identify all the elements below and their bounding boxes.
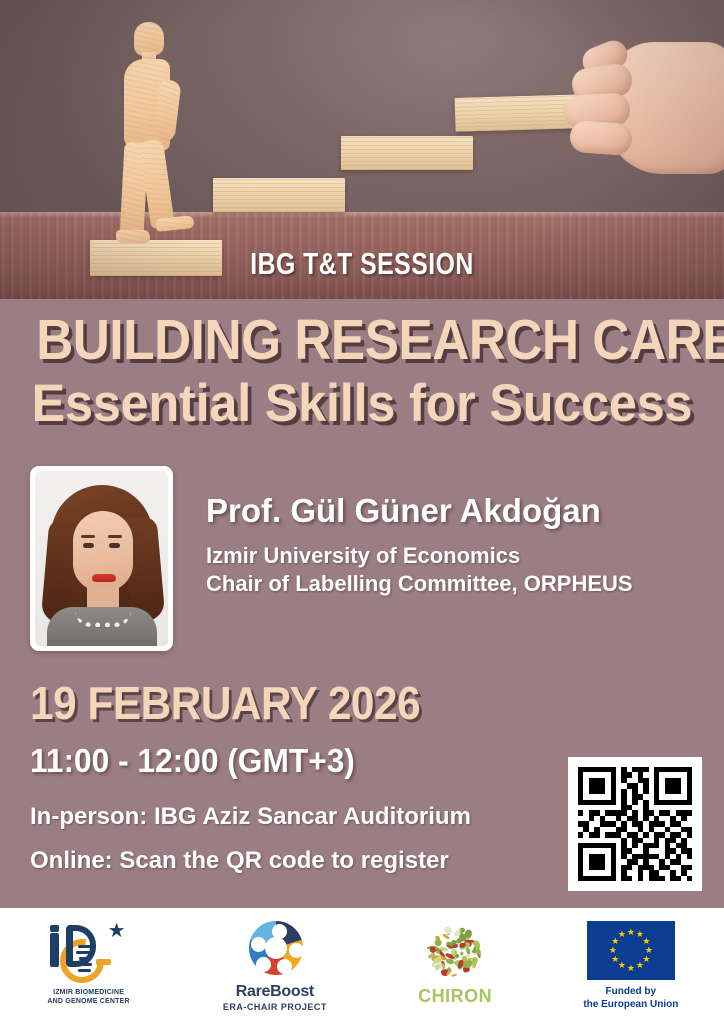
chiron-logo: CHIRON: [418, 926, 492, 1007]
rareboost-center-hole: [265, 937, 287, 959]
rareboost-dot-5: [251, 937, 266, 952]
ibg-logo: IZMIR BIOMEDICINE AND GENOME CENTER: [46, 925, 132, 1007]
portrait-pearl-necklace: [75, 611, 131, 627]
rareboost-subtitle: ERA-CHAIR PROJECT: [223, 1002, 327, 1012]
speaker-section: Prof. Gül Güner Akdoğan Izmir University…: [0, 466, 724, 656]
protein-ribbon-segment: [434, 957, 442, 962]
speaker-photo: [35, 471, 168, 646]
portrait-lips: [92, 574, 116, 582]
speaker-name: Prof. Gül Güner Akdoğan: [206, 492, 718, 530]
rareboost-dot-1: [272, 924, 287, 939]
protein-ribbon-segment: [465, 929, 474, 939]
event-online-instruction: Online: Scan the QR code to register: [30, 849, 570, 873]
event-time: 11:00 - 12:00 (GMT+3): [30, 744, 548, 777]
speaker-affiliation-line-2: Chair of Labelling Committee, ORPHEUS: [206, 570, 718, 598]
dna-helix-icon: [76, 945, 92, 975]
ibg-logo-caption: IZMIR BIOMEDICINE AND GENOME CENTER: [47, 989, 129, 1007]
european-union-flag-icon: [587, 921, 675, 980]
protein-ribbon-segment: [451, 973, 458, 977]
eu-funding-caption: Funded by the European Union: [583, 986, 678, 1011]
eu-caption-line-2: the European Union: [583, 999, 678, 1012]
rareboost-wordmark: RareBoost: [236, 983, 314, 1001]
portrait-eye-left: [83, 543, 94, 548]
speaker-affiliation-line-1: Izmir University of Economics: [206, 542, 718, 570]
rareboost-dot-2: [289, 943, 304, 958]
rareboost-dot-4: [256, 957, 271, 972]
speaker-photo-frame: [30, 466, 173, 651]
qr-code-modules: [578, 767, 692, 881]
ibg-letter-i: [50, 933, 59, 967]
event-venue: In-person: IBG Aziz Sancar Auditorium: [30, 805, 570, 829]
session-kicker: IBG T&T SESSION: [72, 246, 651, 282]
ibg-logo-icon: [46, 925, 132, 983]
title-line-2: Essential Skills for Success: [18, 377, 706, 430]
protein-ribbon-segment: [465, 940, 473, 943]
portrait-eye-right: [109, 543, 120, 548]
page-title: BUILDING RESEARCH CAREERS: Essential Ski…: [0, 312, 724, 430]
portrait-eyebrow-right: [108, 535, 122, 538]
event-date: 19 FEBRUARY 2026: [30, 680, 527, 726]
chiron-wordmark: CHIRON: [418, 986, 492, 1007]
registration-qr-code[interactable]: [568, 757, 702, 891]
protein-structure-icon: [422, 926, 488, 984]
rareboost-logo: RareBoost ERA-CHAIR PROJECT: [223, 921, 327, 1012]
footer-logo-bar: IZMIR BIOMEDICINE AND GENOME CENTER Rare…: [0, 908, 724, 1024]
title-line-1: BUILDING RESEARCH CAREERS:: [36, 312, 688, 369]
hero-image: IBG T&T SESSION: [0, 0, 724, 299]
ibg-letter-i-dot: [50, 925, 59, 932]
event-poster: IBG T&T SESSION BUILDING RESEARCH CAREER…: [0, 0, 724, 1024]
eu-caption-line-1: Funded by: [583, 986, 678, 999]
rareboost-pinwheel-icon: [245, 921, 305, 979]
protein-ribbon-segment: [476, 948, 481, 956]
protein-ribbon-segment: [458, 942, 465, 948]
ibg-caption-line-1: IZMIR BIOMEDICINE: [47, 989, 129, 998]
ibg-letter-g-bar: [96, 959, 111, 965]
portrait-eyebrow-left: [81, 535, 95, 538]
event-details: 19 FEBRUARY 2026 11:00 - 12:00 (GMT+3) I…: [30, 680, 570, 873]
rareboost-dot-3: [277, 959, 292, 974]
ibg-caption-line-2: AND GENOME CENTER: [47, 998, 129, 1007]
eu-funding-logo: Funded by the European Union: [583, 921, 678, 1011]
speaker-text-block: Prof. Gül Güner Akdoğan Izmir University…: [206, 492, 718, 598]
